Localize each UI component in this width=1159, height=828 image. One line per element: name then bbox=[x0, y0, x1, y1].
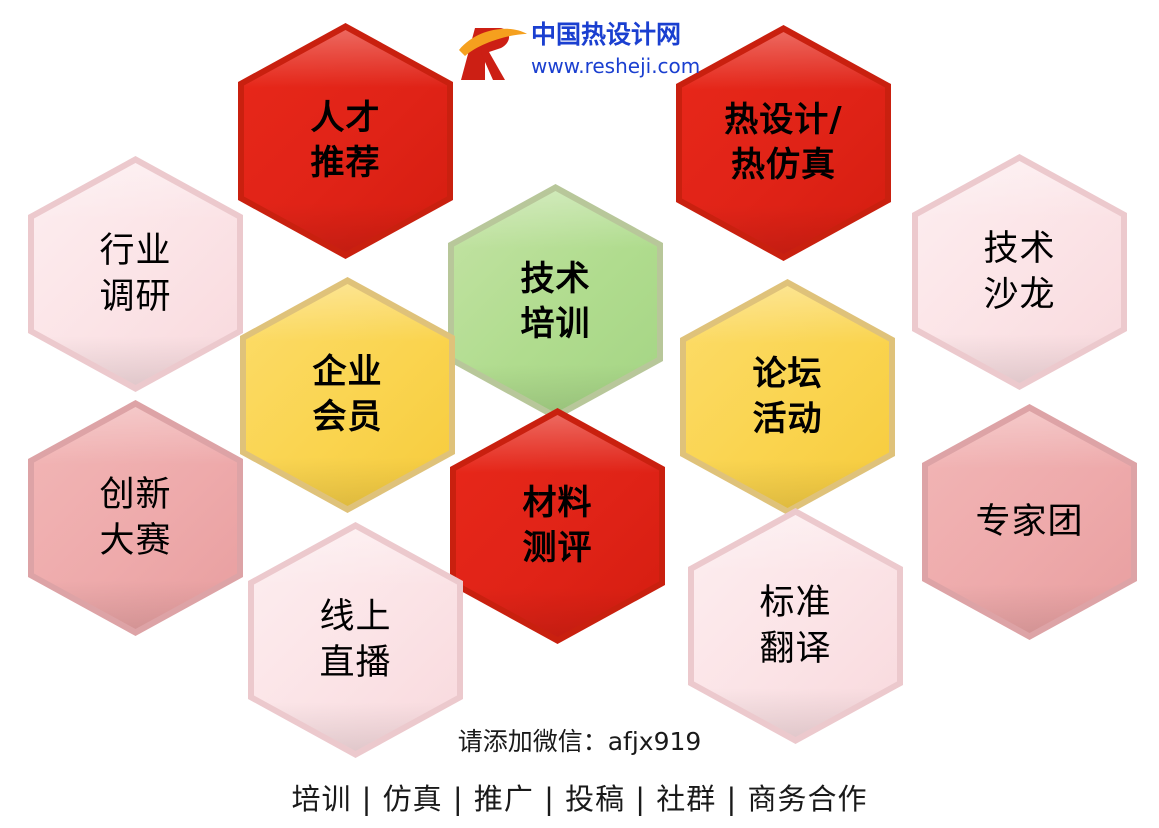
hex-material-evaluation-label: 材料 测评 bbox=[523, 481, 593, 571]
hex-tech-training-label: 技术 培训 bbox=[521, 257, 591, 347]
hex-innovation-contest-label: 创新 大赛 bbox=[99, 472, 171, 564]
hex-innovation-contest-face: 创新 大赛 bbox=[34, 407, 237, 629]
logo-site-name: 中国热设计网 bbox=[531, 20, 681, 50]
hex-talent-recommendation-face: 人才 推荐 bbox=[244, 30, 447, 252]
hex-tech-training-face: 技术 培训 bbox=[454, 191, 657, 413]
hex-material-evaluation[interactable]: 材料 测评 bbox=[450, 408, 665, 644]
hex-innovation-contest[interactable]: 创新 大赛 bbox=[28, 400, 243, 636]
hex-thermal-design-label: 热设计/ 热仿真 bbox=[724, 98, 842, 188]
hex-expert-team[interactable]: 专家团 bbox=[922, 404, 1137, 640]
hex-industry-research-face: 行业 调研 bbox=[34, 163, 237, 385]
hex-industry-research-label: 行业 调研 bbox=[99, 228, 171, 320]
site-logo[interactable]: 中国热设计网 www.resheji.com bbox=[455, 18, 685, 90]
hex-material-evaluation-face: 材料 测评 bbox=[456, 415, 659, 637]
hex-standard-translation[interactable]: 标准 翻译 bbox=[688, 508, 903, 744]
hex-thermal-design-face: 热设计/ 热仿真 bbox=[682, 32, 885, 254]
hex-tech-salon-face: 技术 沙龙 bbox=[918, 161, 1121, 383]
logo-url: www.resheji.com bbox=[531, 54, 700, 78]
hex-enterprise-member-label: 企业 会员 bbox=[313, 350, 383, 440]
hexagon-service-map: 中国热设计网 www.resheji.com 人才 推荐热设计/ 热仿真行业 调… bbox=[0, 0, 1159, 828]
hex-industry-research[interactable]: 行业 调研 bbox=[28, 156, 243, 392]
hex-forum-activity-label: 论坛 活动 bbox=[753, 352, 823, 442]
hex-forum-activity[interactable]: 论坛 活动 bbox=[680, 279, 895, 515]
hex-talent-recommendation-label: 人才 推荐 bbox=[311, 96, 381, 186]
hex-live-stream-face: 线上 直播 bbox=[254, 529, 457, 751]
hex-tech-training[interactable]: 技术 培训 bbox=[448, 184, 663, 420]
hex-forum-activity-face: 论坛 活动 bbox=[686, 286, 889, 508]
hex-expert-team-label: 专家团 bbox=[975, 499, 1083, 545]
hex-tech-salon-label: 技术 沙龙 bbox=[983, 226, 1055, 318]
logo-r-mark-icon bbox=[455, 20, 529, 86]
wechat-contact-line: 请添加微信：afjx919 bbox=[0, 722, 1159, 758]
hex-thermal-design[interactable]: 热设计/ 热仿真 bbox=[676, 25, 891, 261]
hex-enterprise-member-face: 企业 会员 bbox=[246, 284, 449, 506]
hex-tech-salon[interactable]: 技术 沙龙 bbox=[912, 154, 1127, 390]
hex-live-stream-label: 线上 直播 bbox=[319, 594, 391, 686]
hex-talent-recommendation[interactable]: 人才 推荐 bbox=[238, 23, 453, 259]
services-line: 培训 | 仿真 | 推广 | 投稿 | 社群 | 商务合作 bbox=[0, 776, 1159, 818]
hex-expert-team-face: 专家团 bbox=[928, 411, 1131, 633]
hex-standard-translation-label: 标准 翻译 bbox=[759, 580, 831, 672]
hex-enterprise-member[interactable]: 企业 会员 bbox=[240, 277, 455, 513]
hex-standard-translation-face: 标准 翻译 bbox=[694, 515, 897, 737]
